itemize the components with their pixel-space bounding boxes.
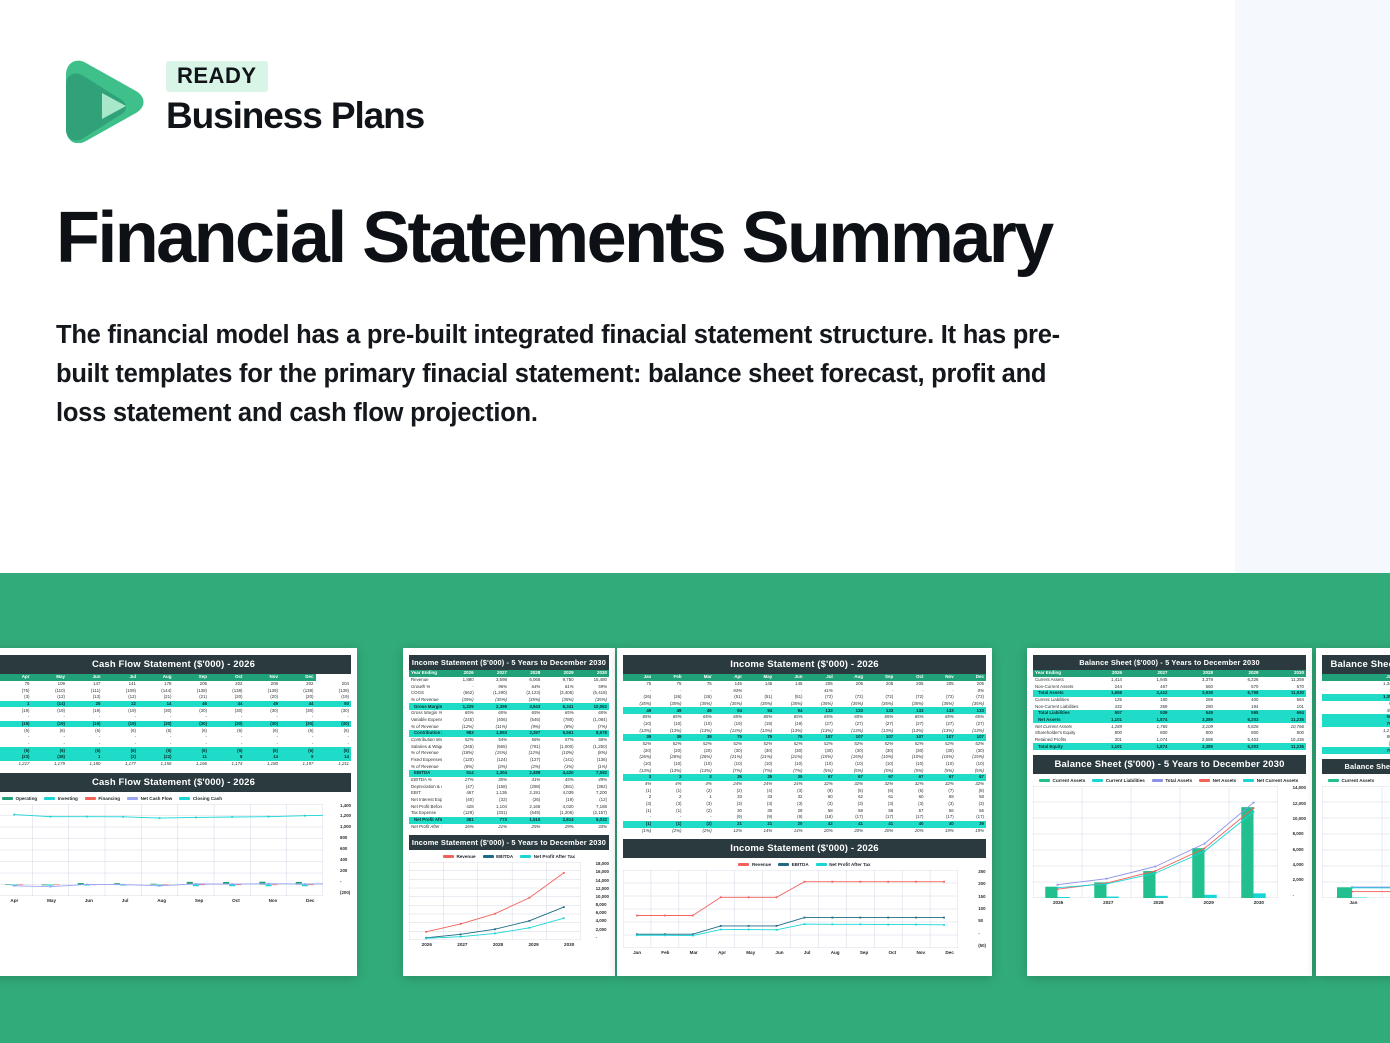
x-tick-label: Jul (122, 898, 129, 903)
cell: (19) (714, 721, 744, 728)
row-label: EBIT (409, 790, 442, 797)
cell: (6) (103, 747, 139, 754)
column-header: May (744, 674, 774, 681)
y-tick-label: 4,000 (1293, 863, 1306, 867)
brand-name: Business Plans (166, 95, 424, 136)
cell: 67 (835, 774, 865, 781)
cell: 107 (865, 734, 895, 741)
y-tick-label: 14,000 (1293, 786, 1306, 790)
cell: 35 (714, 774, 744, 781)
cell: 41% (805, 687, 835, 694)
legend-swatch (1328, 779, 1339, 782)
cell: (15%) (805, 754, 835, 761)
cell: 8,978 (576, 730, 609, 737)
x-tick-label: 2028 (493, 942, 503, 947)
legend-label: EBITDA (496, 854, 513, 859)
table-row: 1,3411,323 (1322, 681, 1390, 688)
y-tick-label: 10,000 (1293, 817, 1306, 821)
cell: 107 (956, 734, 986, 741)
table-row: (10)(10)(10)(19)(19)(19)(27)(27)(27)(27)… (623, 721, 986, 728)
cell: 65% (926, 714, 956, 721)
legend-label: Financing (98, 796, 120, 801)
cell: 133 (865, 707, 895, 714)
cell: - (774, 687, 804, 694)
cell: 65% (653, 714, 683, 721)
cell: 5,032 (576, 817, 609, 824)
cell: 1,765 (1124, 723, 1170, 730)
legend-swatch (85, 797, 96, 800)
table-row: 79109147141178205202208202204 (0, 681, 351, 688)
cell: 56% (509, 737, 542, 744)
cell: 40 (895, 821, 925, 828)
row-label: COGS (409, 690, 442, 697)
column-header: Jun (67, 674, 103, 681)
cell: 560 (1170, 683, 1216, 690)
table-row: (13%)(13%)(13%)(7%)(7%)(7%)(5%)(5%)(5%)(… (623, 768, 986, 775)
cell: (6) (103, 727, 139, 734)
cell: (27) (865, 721, 895, 728)
cell: 44 (209, 701, 245, 708)
legend-item: Operating (2, 796, 37, 801)
cell: 432 (1079, 703, 1125, 710)
cell: (2) (684, 808, 714, 815)
cell: (9) (744, 814, 774, 821)
cell: 2,399 (476, 703, 509, 710)
cell: (30) (714, 747, 744, 754)
cell: 1,874 (1124, 717, 1170, 724)
cell: (662) (442, 690, 475, 697)
cell: 584 (1261, 697, 1307, 704)
cell: 3,378 (1170, 677, 1216, 684)
cell: (3) (865, 801, 895, 808)
cell: 1,211 (316, 761, 352, 768)
cell: 10,766 (1261, 723, 1307, 730)
y-tick-label: 8,000 (596, 903, 609, 907)
cell: (120) (442, 757, 475, 764)
cell: 32% (835, 781, 865, 788)
cell: 800 (1079, 730, 1125, 737)
cell: (1) (623, 808, 653, 815)
cell: 205 (835, 681, 865, 688)
chart-block: Income Statement ($'000) - 5 Years to De… (409, 835, 609, 947)
cell: (1,250) (576, 743, 609, 750)
screenshot-card-balance-monthly[interactable]: Balance Sheet ($'000) - 2026JanFeb1,3411… (1316, 648, 1390, 976)
cell: (35%) (774, 701, 804, 708)
cell: (1,000) (542, 743, 575, 750)
cell: 359 (1124, 703, 1170, 710)
cell: (6) (895, 788, 925, 795)
cell: 46 (174, 701, 210, 708)
cell: 41% (509, 777, 542, 784)
cell: 14 (316, 754, 352, 761)
x-tick-label: 2026 (422, 942, 432, 947)
cell: (26%) (684, 754, 714, 761)
cell: 3,698 (476, 677, 509, 684)
cell: 11,930 (1261, 690, 1307, 697)
column-header: Year Ending (1033, 670, 1079, 677)
cell: - (684, 814, 714, 821)
cell: 35 (774, 774, 804, 781)
x-tick-label: Oct (889, 950, 897, 955)
cell: (13) (67, 694, 103, 701)
cell: (18) (805, 814, 835, 821)
cell: (30) (895, 747, 925, 754)
cell: 1,658 (1079, 690, 1125, 697)
cell: (12) (32, 694, 68, 701)
table-row: (26%)(26%)(26%)(21%)(21%)(21%)(15%)(15%)… (623, 754, 986, 761)
legend-item: Revenue (738, 862, 771, 867)
cell: 75 (714, 734, 744, 741)
cell: (26) (684, 694, 714, 701)
cell: 107 (835, 734, 865, 741)
column-header: 2030 (576, 670, 609, 677)
row-label: Non-Current Assets (1033, 683, 1079, 690)
cell: (21%) (774, 754, 804, 761)
cell: (6) (174, 747, 210, 754)
row-label: % of Revenue (409, 764, 442, 771)
cell: (35%) (542, 697, 575, 704)
cell: (75) (0, 687, 32, 694)
legend-item: Financing (85, 796, 120, 801)
data-table: AprMayJunJulAugSepOctNovDec7910914714117… (0, 674, 351, 768)
cell: (35%) (956, 701, 986, 708)
column-header: 2027 (476, 670, 509, 677)
cell: 11,235 (1261, 743, 1307, 750)
cell: - (209, 741, 245, 748)
x-axis-labels: JanFeb (1322, 900, 1390, 905)
cell: 1 (67, 754, 103, 761)
screenshot-card-cashflow[interactable]: Cash Flow Statement ($'000) - 2026AprMay… (0, 648, 357, 976)
cell: 33 (714, 794, 744, 801)
cell: - (138, 741, 174, 748)
cell: (17) (895, 814, 925, 821)
x-tick-label: Sep (860, 950, 868, 955)
cell: 22 (103, 701, 139, 708)
y-axis-labels: 18,00016,00014,00012,00010,0008,0006,000… (596, 862, 609, 940)
cell: (565) (476, 743, 509, 750)
cell: (6) (245, 727, 281, 734)
row-label: Revenue (409, 677, 442, 684)
cell: (2%) (653, 828, 683, 835)
cell: 0% (956, 687, 986, 694)
sheet-table-wrap: Income Statement ($'000) - 5 Years to De… (409, 655, 609, 830)
cell: 15,480 (576, 677, 609, 684)
cell: 3,389 (1170, 717, 1216, 724)
table-row: % of Revenue(18%)(15%)(12%)(10%)(8%) (409, 750, 609, 757)
cell: (35%) (865, 701, 895, 708)
chart-legend: Current AssetsCurrent LiabilitiesTotal A… (1033, 778, 1306, 783)
cell: (17) (835, 814, 865, 821)
cell: (21%) (714, 754, 744, 761)
legend-item: Net Cash Flow (127, 796, 172, 801)
cell: (13%) (926, 727, 956, 734)
cell: (19) (774, 721, 804, 728)
legend-item: Net Profit After Tax (816, 862, 871, 867)
cell: 65 (1322, 701, 1390, 708)
cell: 45% (542, 777, 575, 784)
cell: (1) (653, 808, 683, 815)
cell: - (280, 741, 316, 748)
x-tick-label: Nov (269, 898, 278, 903)
cell: 75 (774, 734, 804, 741)
cell: 57% (542, 737, 575, 744)
cell: 1,945 (1124, 677, 1170, 684)
cell: 52% (835, 741, 865, 748)
cell: (13%) (653, 768, 683, 775)
x-tick-label: 2027 (1103, 900, 1113, 905)
table-row: Gross Margin %65%65%65%65%65% (409, 710, 609, 717)
cell: (30) (138, 721, 174, 728)
cell: - (653, 814, 683, 821)
cell: 4% (623, 781, 653, 788)
cell: 32% (956, 781, 986, 788)
cell: 94 (774, 707, 804, 714)
cell: - (67, 714, 103, 721)
table-row: (6)(6)(6)(6)(6)(6)(6)(6)(6)(6) (0, 747, 351, 754)
cell: 560 (1322, 714, 1390, 721)
table-row: Depreciation & Amortisation(47)(168)(298… (409, 784, 609, 791)
x-tick-label: Sep (195, 898, 203, 903)
cell: (3) (805, 801, 835, 808)
y-tick-label: 100 (978, 907, 986, 911)
legend-label: Net Profit After Tax (534, 854, 575, 859)
cell: 1,104 (476, 804, 509, 811)
cell: (26) (653, 694, 683, 701)
cell: (15%) (835, 754, 865, 761)
cell: (3) (774, 788, 804, 795)
column-header: 2026 (1079, 670, 1125, 677)
cell: - (865, 687, 895, 694)
y-tick-label: 10,000 (596, 895, 609, 899)
y-tick-label: (200) (340, 891, 351, 895)
cell: 4% (653, 781, 683, 788)
cell: (19) (103, 707, 139, 714)
y-tick-label: 16,000 (596, 870, 609, 874)
cell: 56 (926, 808, 956, 815)
cell: 18 (1322, 687, 1390, 694)
cell: 11 (174, 754, 210, 761)
cell: 49 (653, 707, 683, 714)
cell: 59% (576, 683, 609, 690)
cell: 20% (895, 828, 925, 835)
cell: 180 (1124, 697, 1170, 704)
cell: (6%) (442, 764, 475, 771)
table-row: 799798 (1322, 721, 1390, 728)
y-axis-labels: 25020015010050-(50) (978, 870, 986, 948)
cell: 983 (442, 730, 475, 737)
cell: 21 (744, 821, 774, 828)
legend-item: Current Assets (1328, 778, 1374, 783)
cell: (5%) (895, 768, 925, 775)
cell: 109 (32, 681, 68, 688)
x-tick-label: Apr (718, 950, 726, 955)
cell: (10) (684, 721, 714, 728)
cell: (781) (509, 743, 542, 750)
cell: 1,217 (0, 761, 32, 768)
cell: 65% (956, 714, 986, 721)
legend-swatch (127, 797, 138, 800)
cell: (6) (0, 747, 32, 754)
legend-item: EBITDA (778, 862, 809, 867)
table-row: Salaries & Wages(345)(565)(781)(1,000)(1… (409, 743, 609, 750)
legend-swatch (44, 797, 55, 800)
play-triangle-logo-icon (58, 55, 150, 143)
cell: (110) (32, 687, 68, 694)
cell: 3 (623, 774, 653, 781)
cell: (4) (744, 788, 774, 795)
table-row: Contribution Margin %52%54%56%57%58% (409, 737, 609, 744)
cell: 1 (684, 794, 714, 801)
legend-swatch (816, 863, 827, 866)
x-tick-label: 2028 (1153, 900, 1163, 905)
row-label: Shareholder's Equity (1033, 730, 1079, 737)
cell: 94 (714, 707, 744, 714)
cell: (27) (956, 721, 986, 728)
cell: (35%) (805, 701, 835, 708)
column-header: Nov (245, 674, 281, 681)
cell: 8 (209, 754, 245, 761)
cell: 2,488 (509, 770, 542, 777)
column-header: Dec (956, 674, 986, 681)
row-label: Net Profit After Tax % (409, 824, 442, 831)
cell: 21% (476, 824, 509, 831)
row-label: Net Profit After Tax (409, 817, 442, 824)
cell: 65% (509, 710, 542, 717)
table-row: COGS(662)(1,290)(2,123)(3,405)(5,418) (409, 690, 609, 697)
x-tick-label: 2030 (564, 942, 574, 947)
cell: (72) (956, 694, 986, 701)
table-row: 799798 (1322, 747, 1390, 754)
cell: (1) (653, 821, 683, 828)
legend-swatch (2, 797, 13, 800)
table-row: 494949949494133133133133133133 (623, 707, 986, 714)
cell: 61 (865, 794, 895, 801)
cell: (10) (805, 761, 835, 768)
cell: 67 (805, 774, 835, 781)
cell: (10) (774, 761, 804, 768)
y-tick-label: 400 (340, 858, 351, 862)
cell: 58 (835, 808, 865, 815)
cell: 400 (1215, 697, 1261, 704)
table-row: (20)(20)(20)(30)(30)(30)(30)(30)(30)(30)… (623, 747, 986, 754)
row-label: Depreciation & Amortisation (409, 784, 442, 791)
table-row: Total Equity1,1011,8743,3896,20311,235 (1033, 743, 1306, 750)
legend-item: Net Profit After Tax (520, 854, 575, 859)
x-tick-label: Jul (804, 950, 811, 955)
cell: (22) (138, 754, 174, 761)
cell: (35%) (653, 701, 683, 708)
cell: (21) (138, 694, 174, 701)
cell: - (744, 687, 774, 694)
cell: 6,203 (1215, 717, 1261, 724)
screenshot-card-income-monthly[interactable]: Income Statement ($'000) - 2026JanFebMar… (617, 648, 992, 976)
table-row: Tax Expense(129)(331)(649)(1,206)(2,157) (409, 810, 609, 817)
cell: 65% (895, 714, 925, 721)
screenshot-card-income-5yr[interactable]: Income Statement ($'000) - 5 Years to De… (403, 648, 615, 976)
cell: - (684, 687, 714, 694)
cell: 3,397 (509, 730, 542, 737)
cell: 20% (805, 828, 835, 835)
cell: 14 (138, 701, 174, 708)
y-tick-label: 12,000 (596, 887, 609, 891)
row-label: % of Revenue (409, 697, 442, 704)
cell: (7) (926, 788, 956, 795)
cell: 96% (476, 683, 509, 690)
cell: (1%) (576, 764, 609, 771)
cell: 204 (316, 681, 352, 688)
cell: (30) (209, 707, 245, 714)
legend-swatch (1092, 779, 1103, 782)
cell: (35%) (623, 701, 653, 708)
cell: 5,826 (1215, 723, 1261, 730)
cell: 141 (103, 681, 139, 688)
cell: (10) (956, 761, 986, 768)
cell: (10) (926, 761, 956, 768)
cell: 6,341 (542, 703, 575, 710)
table-row: (10)(10)(10)(10)(10)(10)(10)(10)(10)(10)… (623, 761, 986, 768)
legend-label: Current Assets (1342, 778, 1375, 783)
cell: - (209, 734, 245, 741)
cell: 39 (623, 734, 653, 741)
cell: - (0, 714, 32, 721)
column-header: 2027 (1124, 670, 1170, 677)
row-label: Salaries & Wages (409, 743, 442, 750)
legend-swatch (179, 797, 190, 800)
cell: (12) (103, 694, 139, 701)
cell: (72) (895, 694, 925, 701)
cell: 1,414 (1079, 677, 1125, 684)
table-row: Net Profit Before Tax4281,1042,1654,0207… (409, 804, 609, 811)
sheet-table-wrap: Income Statement ($'000) - 2026JanFebMar… (623, 655, 986, 834)
cell: 205 (926, 681, 956, 688)
cell: (1,206) (542, 810, 575, 817)
cell: 428 (442, 804, 475, 811)
cell: 10,062 (576, 703, 609, 710)
cell: 800 (1124, 730, 1170, 737)
cell: - (316, 741, 352, 748)
cell: 65% (835, 714, 865, 721)
x-axis-labels: JanFebMarAprMayJunJulAugSepOctNovDec (623, 950, 986, 955)
cell: (10) (835, 761, 865, 768)
column-header: Oct (895, 674, 925, 681)
cell: (6) (865, 788, 895, 795)
cell: 14% (744, 828, 774, 835)
brand-logo[interactable]: READY Business Plans (58, 55, 424, 143)
cell: (15%) (895, 754, 925, 761)
cell: (30) (926, 747, 956, 754)
table-row: 1836 (1322, 687, 1390, 694)
table-row: EBITDA5141,3042,4884,4207,592 (409, 770, 609, 777)
sheet-title: Income Statement ($'000) - 2026 (623, 655, 986, 674)
cell: (6) (138, 727, 174, 734)
cell: (5%) (956, 768, 986, 775)
sheet-table-wrap: Balance Sheet ($'000) - 2026JanFeb1,3411… (1322, 655, 1390, 754)
cell: (3) (895, 801, 925, 808)
cell: (649) (509, 810, 542, 817)
cell: - (835, 687, 865, 694)
table-row: % of Revenue(12%)(11%)(9%)(8%)(7%) (409, 723, 609, 730)
cell: (30) (174, 721, 210, 728)
screenshot-card-balance-5yr[interactable]: Balance Sheet ($'000) - 5 Years to Decem… (1027, 648, 1312, 976)
column-header: 2026 (442, 670, 475, 677)
cell: (406) (476, 717, 509, 724)
x-axis-labels: 20262027202820292030 (409, 942, 609, 947)
cell: (13%) (714, 727, 744, 734)
table-row: EBIT4671,1362,1914,0397,200 (409, 790, 609, 797)
cell: 93% (714, 687, 744, 694)
cell: 75 (623, 681, 653, 688)
cell: 107 (926, 734, 956, 741)
